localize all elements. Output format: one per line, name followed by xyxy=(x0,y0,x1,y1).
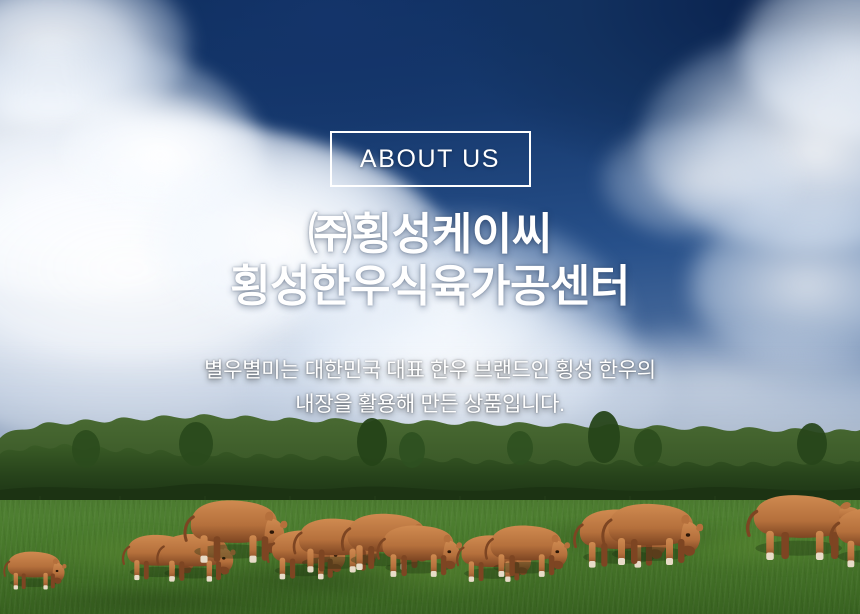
hero-text-overlay: ABOUT US ㈜횡성케이씨 횡성한우식육가공센터 별우별미는 대한민국 대표… xyxy=(0,0,860,614)
about-us-badge-label: ABOUT US xyxy=(360,147,500,172)
about-us-badge: ABOUT US xyxy=(330,131,531,187)
page-title: ㈜횡성케이씨 횡성한우식육가공센터 xyxy=(230,209,630,314)
about-us-hero-banner: ABOUT US ㈜횡성케이씨 횡성한우식육가공센터 별우별미는 대한민국 대표… xyxy=(0,0,860,614)
hero-description: 별우별미는 대한민국 대표 한우 브랜드인 횡성 한우의 내장을 활용해 만든 … xyxy=(204,354,656,422)
